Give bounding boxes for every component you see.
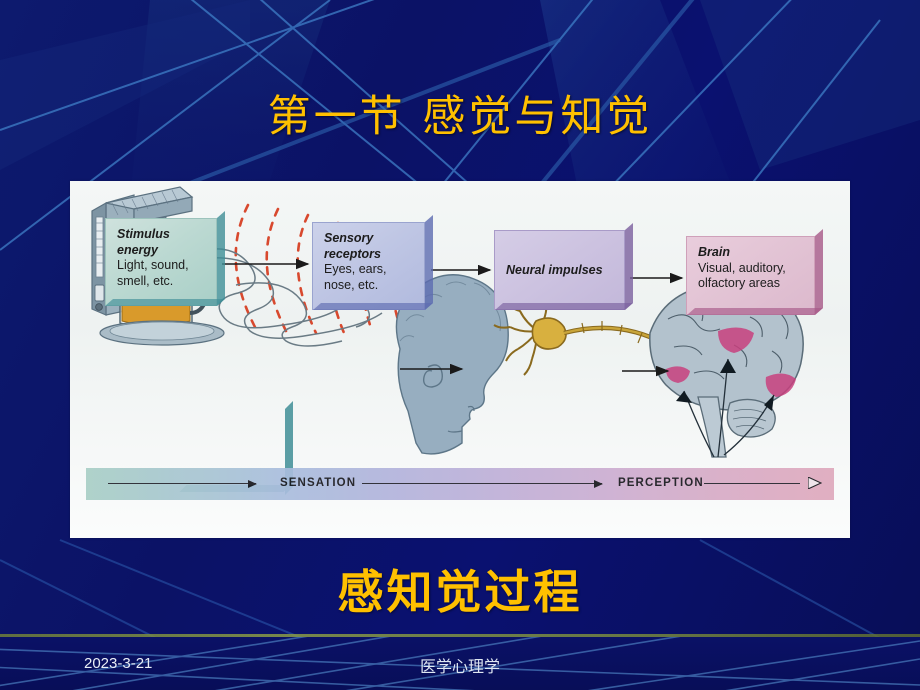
flow-box-neural-impulses: Neural impulses — [494, 230, 625, 310]
sensation-perception-bar: SENSATION PERCEPTION — [86, 468, 834, 500]
figure-panel: Stimulus energy Light, sound, smell, etc… — [70, 181, 850, 538]
flow-box-4-heading: Brain — [698, 245, 805, 261]
flow-box-3-heading: Neural impulses — [506, 263, 603, 279]
flow-box-4-detail: Visual, auditory, olfactory areas — [698, 261, 805, 292]
flow-box-1-heading: Stimulus energy — [117, 227, 207, 258]
flow-box-2-heading: Sensory receptors — [324, 231, 415, 262]
perception-arrow-right — [704, 483, 800, 484]
sensation-to-perception-arrow — [362, 483, 602, 484]
flow-box-1-detail: Light, sound, smell, etc. — [117, 258, 207, 289]
slide-caption: 感知觉过程 — [0, 556, 920, 622]
sensation-arrow-left — [108, 483, 256, 484]
figure-canvas: Stimulus energy Light, sound, smell, etc… — [70, 181, 850, 538]
flow-box-sensory-receptors: Sensory receptors Eyes, ears, nose, etc. — [312, 222, 425, 310]
perception-label: PERCEPTION — [618, 477, 704, 489]
flow-box-stimulus-energy: Stimulus energy Light, sound, smell, etc… — [105, 218, 217, 306]
slide-title: 第一节 感觉与知觉 — [0, 82, 920, 144]
flow-box-2-detail: Eyes, ears, nose, etc. — [324, 262, 415, 293]
sensation-label: SENSATION — [280, 477, 356, 489]
slide: 第一节 感觉与知觉 — [0, 0, 920, 690]
footer-course-title: 医学心理学 — [0, 653, 920, 677]
flow-box-brain: Brain Visual, auditory, olfactory areas — [686, 236, 815, 315]
perception-arrow-head-icon — [798, 478, 809, 488]
